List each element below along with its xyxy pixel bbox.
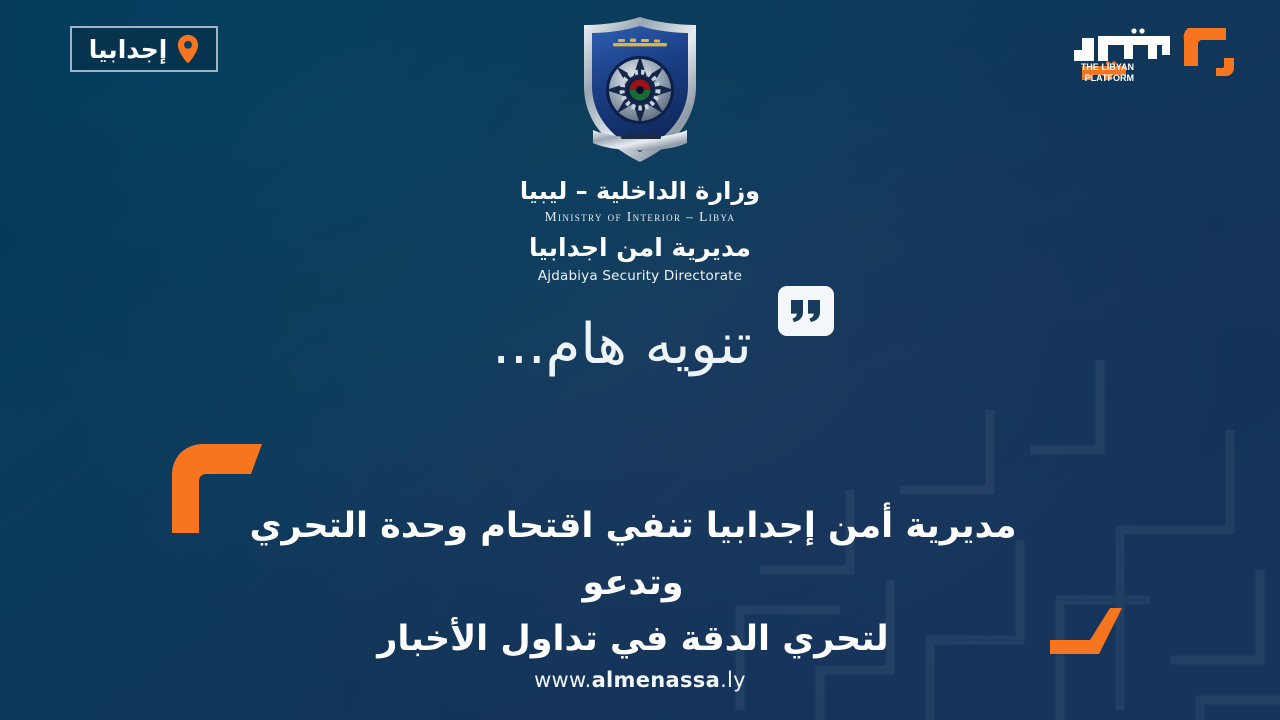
brand-english-line1: THE LIBYAN: [1081, 62, 1134, 72]
organization-identity-block: وزارة الداخلية – ليبيا Ministry of Inter…: [490, 14, 790, 284]
ministry-name-arabic: وزارة الداخلية – ليبيا: [490, 178, 790, 204]
map-pin-icon: [177, 34, 199, 64]
ministry-of-interior-shield-emblem: [569, 14, 711, 166]
url-prefix: www.: [534, 668, 591, 692]
ministry-name-english: Ministry of Interior – Libya: [490, 209, 790, 225]
announcement-body: مديرية أمن إجدابيا تنفي اقتحام وحدة التح…: [238, 498, 1028, 668]
brand-english-line2: PLATFORM: [1085, 73, 1134, 83]
page-title: تنويه هام...: [0, 316, 1280, 375]
orange-corner-shape-icon: [1050, 608, 1122, 654]
directorate-name-arabic: مديرية امن اجدابيا: [490, 234, 790, 262]
announcement-line-2: لتحري الدقة في تداول الأخبار: [238, 611, 1028, 668]
website-url[interactable]: www.almenassa.ly: [0, 668, 1280, 692]
url-tld: .ly: [720, 668, 746, 692]
directorate-name-english: Ajdabiya Security Directorate: [490, 268, 790, 284]
poster-canvas: إجدابيا: [0, 0, 1280, 720]
location-badge-label: إجدابيا: [89, 37, 168, 62]
location-badge[interactable]: إجدابيا: [70, 26, 218, 72]
announcement-line-1: مديرية أمن إجدابيا تنفي اقتحام وحدة التح…: [238, 498, 1028, 611]
url-domain: almenassa: [592, 668, 721, 692]
libyan-platform-logo[interactable]: THE LIBYAN PLATFORM: [1038, 22, 1238, 86]
